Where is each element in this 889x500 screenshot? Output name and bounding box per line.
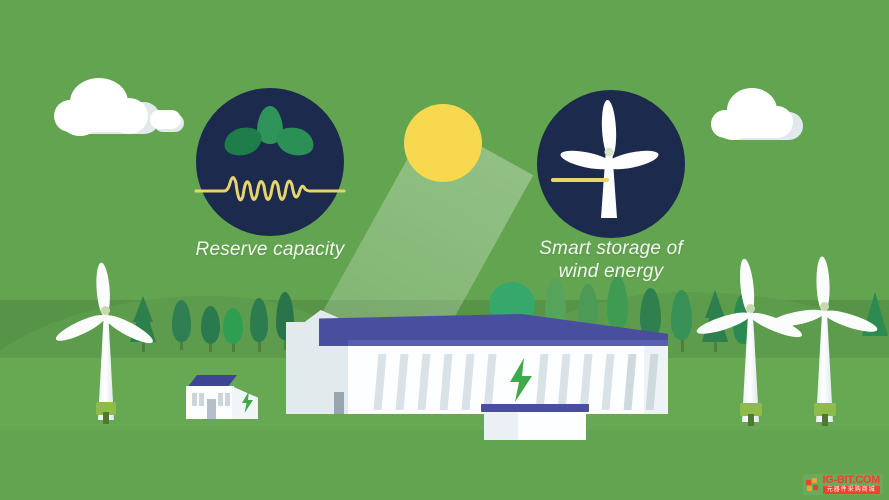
sun <box>404 104 482 182</box>
ground-foreground <box>0 430 889 500</box>
small-substation-house <box>182 375 260 423</box>
tree <box>168 300 194 350</box>
battery-storage-warehouse <box>286 310 668 420</box>
lightning-bolt-icon <box>241 391 254 413</box>
watermark-subtext: 元器件采购商城 <box>823 486 881 494</box>
wind-turbine-left <box>58 250 168 425</box>
cloud-left-large <box>48 72 160 134</box>
lightning-bolt-icon <box>508 358 534 402</box>
badge-reserve-capacity[interactable] <box>196 88 344 236</box>
badge-smart-storage[interactable] <box>537 90 685 238</box>
cloud-left-small <box>150 110 184 132</box>
front-platform-unit <box>481 404 589 440</box>
watermark-logo-icon <box>806 478 820 492</box>
wind-turbine-right-front <box>778 246 889 426</box>
cloud-right <box>707 86 805 140</box>
badge-label-line2: wind energy <box>521 260 701 283</box>
tree <box>220 308 246 352</box>
badge-label-line1: Smart storage of <box>521 237 701 260</box>
tree <box>246 298 272 352</box>
illustration-canvas: Reserve capacity Smart storage of wind e… <box>0 0 889 500</box>
watermark-text: IG-BIT.COM <box>823 475 881 486</box>
ig-bit-watermark: IG-BIT.COM 元器件采购商城 <box>803 474 884 495</box>
badge-label-smart-storage: Smart storage of wind energy <box>521 237 701 283</box>
badge-label-reserve-capacity: Reserve capacity <box>180 238 360 261</box>
wind-turbine-icon <box>537 90 685 238</box>
leaf-icon-right <box>274 124 317 158</box>
tree <box>668 290 696 352</box>
waveform-icon <box>194 170 346 212</box>
gold-line-icon <box>551 178 609 182</box>
